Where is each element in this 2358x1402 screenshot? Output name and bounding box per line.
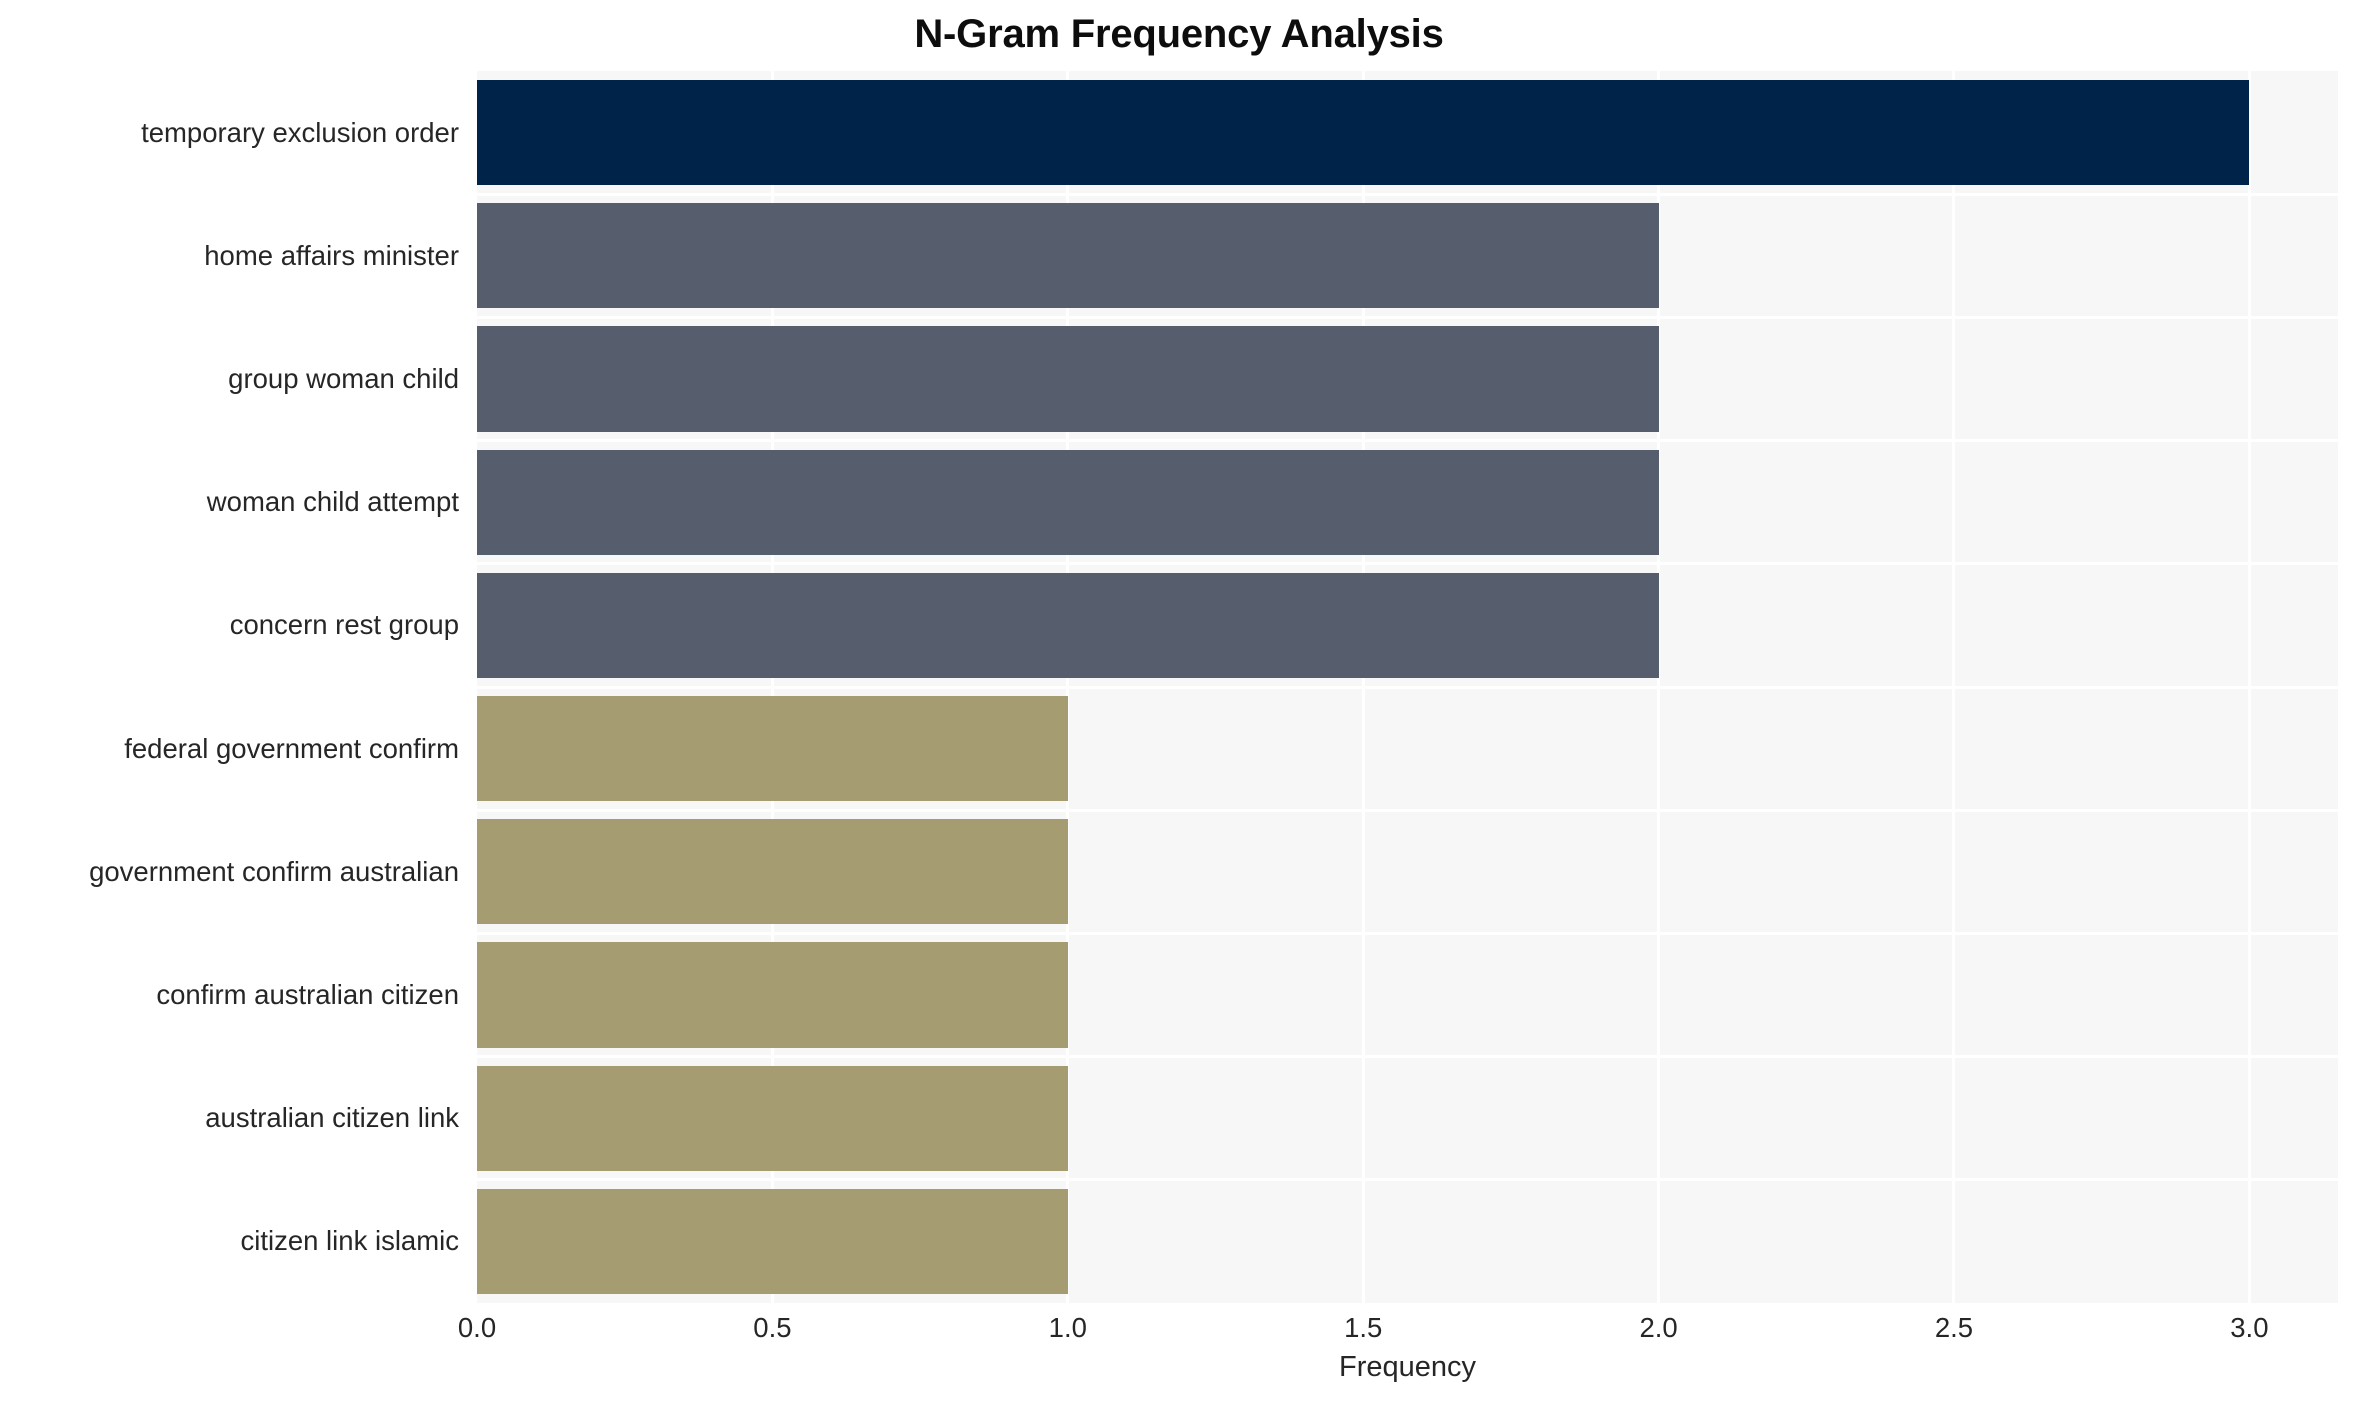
- gridline-horizontal: [477, 932, 2338, 935]
- bar: [477, 942, 2338, 1047]
- bar-fill: [477, 1066, 1068, 1171]
- gridline-horizontal: [477, 686, 2338, 689]
- x-axis-tick-label: 2.5: [1935, 1311, 1973, 1345]
- gridline-horizontal: [477, 1055, 2338, 1058]
- gridline-horizontal: [477, 562, 2338, 565]
- y-axis-label: citizen link islamic: [0, 1226, 459, 1256]
- x-axis-tick-label: 2.0: [1639, 1311, 1677, 1345]
- plot-area: [477, 71, 2338, 1303]
- bar-fill: [477, 573, 1659, 678]
- bar: [477, 819, 2338, 924]
- bar-fill: [477, 942, 1068, 1047]
- y-axis-label: government confirm australian: [0, 857, 459, 887]
- x-axis-tick-label: 1.0: [1049, 1311, 1087, 1345]
- bar: [477, 573, 2338, 678]
- gridline-horizontal: [477, 193, 2338, 196]
- y-axis-label: australian citizen link: [0, 1103, 459, 1133]
- x-axis-tick-label: 0.0: [458, 1311, 496, 1345]
- y-axis-label: concern rest group: [0, 610, 459, 640]
- bar: [477, 80, 2338, 185]
- y-axis-label: federal government confirm: [0, 734, 459, 764]
- bar-fill: [477, 80, 2249, 185]
- y-axis-label: woman child attempt: [0, 487, 459, 517]
- bar-fill: [477, 696, 1068, 801]
- x-axis-tick-label: 1.5: [1344, 1311, 1382, 1345]
- bar-fill: [477, 326, 1659, 431]
- gridline-horizontal: [477, 809, 2338, 812]
- x-axis-tick-label: 0.5: [753, 1311, 791, 1345]
- page-title: N-Gram Frequency Analysis: [0, 6, 2358, 62]
- bar: [477, 450, 2338, 555]
- y-axis-label: home affairs minister: [0, 241, 459, 271]
- bar: [477, 1066, 2338, 1171]
- bar-fill: [477, 450, 1659, 555]
- x-axis-title: Frequency: [477, 1348, 2338, 1386]
- bar: [477, 696, 2338, 801]
- bar-fill: [477, 819, 1068, 924]
- y-axis-label: temporary exclusion order: [0, 118, 459, 148]
- bar: [477, 326, 2338, 431]
- gridline-horizontal: [477, 316, 2338, 319]
- gridline-horizontal: [477, 1178, 2338, 1181]
- y-axis-label: confirm australian citizen: [0, 980, 459, 1010]
- chart-figure: N-Gram Frequency Analysis temporary excl…: [0, 0, 2358, 1402]
- y-axis-label: group woman child: [0, 364, 459, 394]
- bar-fill: [477, 203, 1659, 308]
- bar-fill: [477, 1189, 1068, 1294]
- x-axis-tick-label: 3.0: [2230, 1311, 2268, 1345]
- bar: [477, 203, 2338, 308]
- gridline-horizontal: [477, 439, 2338, 442]
- y-axis-category-labels: temporary exclusion orderhome affairs mi…: [0, 71, 459, 1303]
- bar: [477, 1189, 2338, 1294]
